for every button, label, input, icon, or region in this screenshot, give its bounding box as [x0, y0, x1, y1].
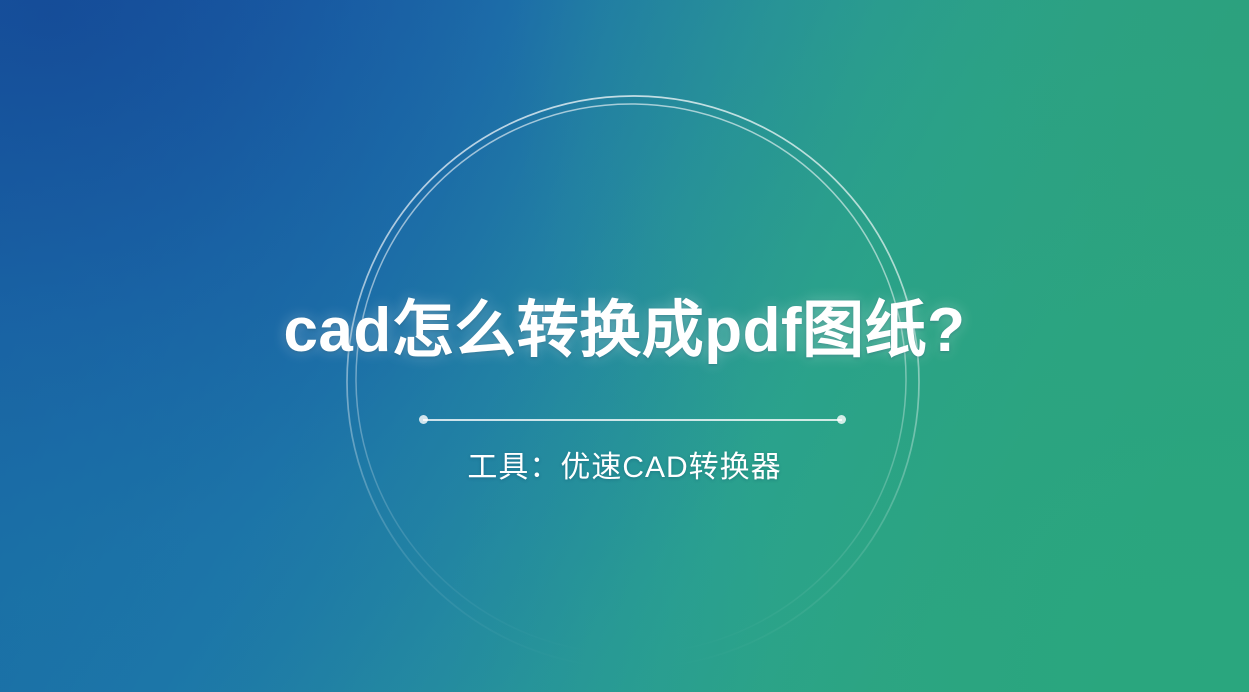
slide-title: cad怎么转换成pdf图纸?: [0, 288, 1249, 374]
presentation-slide: cad怎么转换成pdf图纸? 工具：优速CAD转换器: [0, 0, 1249, 692]
slide-subtitle: 工具：优速CAD转换器: [0, 447, 1249, 489]
slide-content: cad怎么转换成pdf图纸? 工具：优速CAD转换器: [0, 0, 1249, 692]
title-divider: [419, 415, 846, 424]
divider-dot-right-icon: [837, 415, 846, 424]
divider-line: [423, 419, 842, 421]
